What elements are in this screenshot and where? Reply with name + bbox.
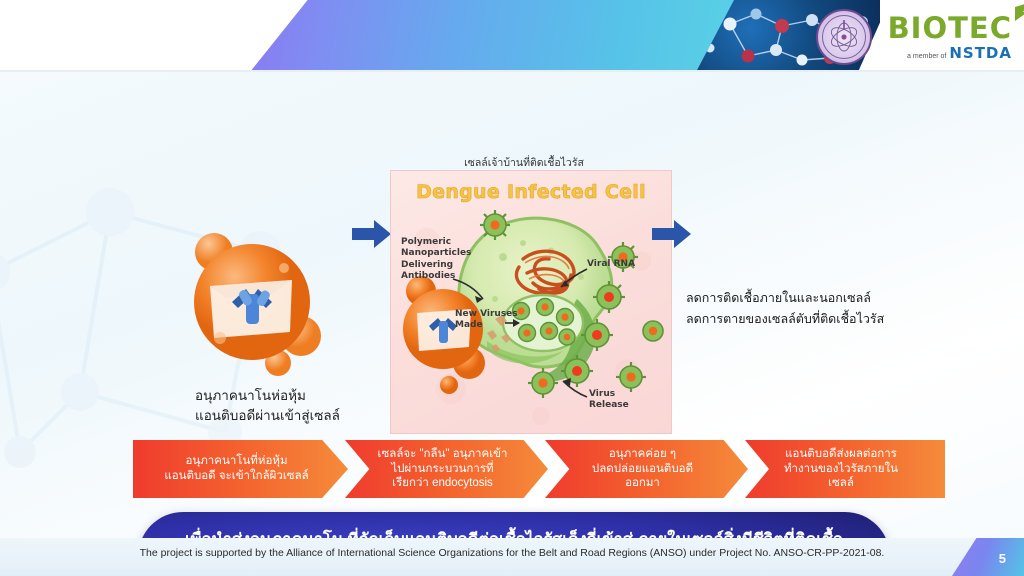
step1-line2: แอนติบอดี จะเข้าใกล้ผิวเซลล์ [164,469,308,484]
cell-artwork [391,171,671,433]
process-step-2[interactable]: เซลล์จะ "กลืน" อนุภาคเข้า ไปผ่านกระบวนกา… [345,440,548,498]
biotec-sub-wordmark: a member of NSTDA [907,46,1012,61]
label-polymeric-nanoparticles: Polymeric Nanoparticles Delivering Antib… [401,237,471,282]
nanoparticle-antibody-illustration [180,228,330,388]
outcome-text: ลดการติดเชื้อภายในและนอกเซลล์ ลดการตายขอ… [686,288,1006,329]
step4-line1: แอนติบอดีส่งผลต่อการ [784,447,898,462]
step4-line2: ทำงานของไวรัสภายใน [784,462,898,477]
biotec-flag-icon [1013,3,1024,23]
page-number: 5 [999,551,1006,566]
step2-line1: เซลล์จะ "กลืน" อนุภาคเข้า [378,447,508,462]
logo-group: BIOTEC a member of NSTDA [816,6,1012,68]
step3-line1: อนุภาคค่อย ๆ [592,447,693,462]
outcome-line1: ลดการติดเชื้อภายในและนอกเซลล์ [686,288,1006,309]
step2-line3: เรียกว่า endocytosis [378,476,508,491]
outcome-line2: ลดการตายของเซลล์ตับที่ติดเชื้อไวรัส [686,309,1006,330]
step4-line3: เซลล์ [784,476,898,491]
process-step-4[interactable]: แอนติบอดีส่งผลต่อการ ทำงานของไวรัสภายใน … [745,440,945,498]
label-viral-rna: Viral RNA [587,259,635,270]
step3-line2: ปลดปล่อยแอนติบอดี [592,462,693,477]
step3-line3: ออกมา [592,476,693,491]
arrow-right-icon-left [352,218,392,250]
nstda-wordmark: NSTDA [949,46,1012,61]
member-of-label: a member of [907,53,946,60]
slide-body: อนุภาคนาโนห่อหุ้ม แอนติบอดีผ่านเข้าสู่เซ… [0,72,1024,538]
arrow-right-icon-right [652,218,692,250]
dengue-infected-cell-picture: Dengue Infected Cell [390,170,672,434]
label-virus-release: Virus Release [589,389,629,412]
objective-banner: เพื่อนำส่งอนุภาคนาโน ที่กักเก็บแอนติบอดี… [138,512,890,538]
biotec-logo: BIOTEC a member of NSTDA [888,14,1012,61]
slide-canvas: BIOTEC a member of NSTDA [0,0,1024,576]
label-new-viruses-made: New Viruses Made [455,309,518,332]
process-chevron-strip: อนุภาคนาโนที่ห่อหุ้ม แอนติบอดี จะเข้าใกล… [133,440,893,498]
process-step-3[interactable]: อนุภาคค่อย ๆ ปลดปล่อยแอนติบอดี ออกมา [545,440,748,498]
infected-cell-caption: เซลล์เจ้าบ้านที่ติดเชื้อไวรัส [404,154,644,171]
slide-header: BIOTEC a member of NSTDA [0,0,1024,72]
funding-acknowledgement: The project is supported by the Alliance… [0,547,1024,559]
biotec-wordmark: BIOTEC [888,14,1012,43]
process-step-1[interactable]: อนุภาคนาโนที่ห่อหุ้ม แอนติบอดี จะเข้าใกล… [133,440,348,498]
biotec-seal-icon [816,9,872,65]
slide-footer: The project is supported by the Alliance… [0,538,1024,576]
step2-line2: ไปผ่านกระบวนการที่ [378,462,508,477]
objective-line1: เพื่อนำส่งอนุภาคนาโน ที่กักเก็บแอนติบอดี… [185,527,843,539]
step1-line1: อนุภาคนาโนที่ห่อหุ้ม [164,454,308,469]
